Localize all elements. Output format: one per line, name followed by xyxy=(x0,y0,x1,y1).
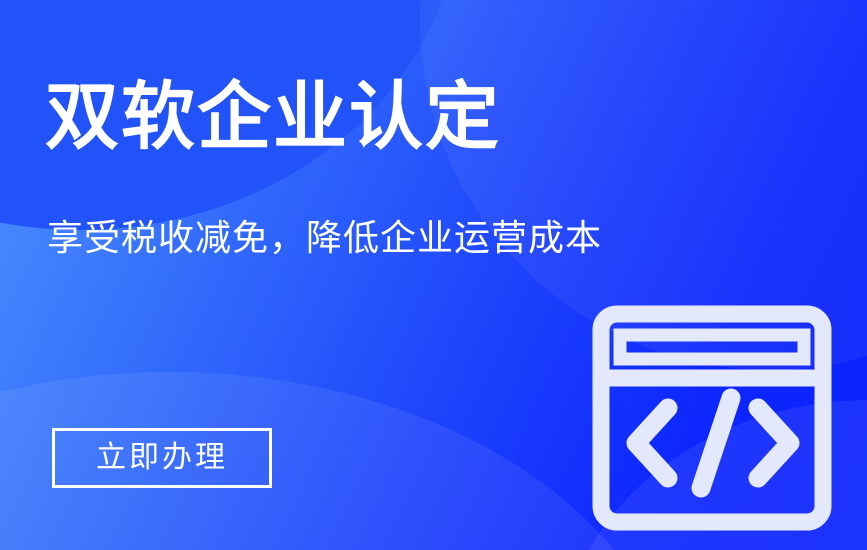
cta-apply-now-button[interactable]: 立即办理 xyxy=(52,428,272,488)
code-window-icon xyxy=(588,303,836,533)
code-left-bracket-icon xyxy=(636,408,668,478)
code-window-titlebar-slot xyxy=(620,335,804,359)
banner-content: 双软企业认定 享受税收减免，降低企业运营成本 立即办理 xyxy=(0,0,867,550)
promo-banner: 双软企业认定 享受税收减免，降低企业运营成本 立即办理 xyxy=(0,0,867,550)
code-window-frame xyxy=(601,314,823,522)
code-right-bracket-icon xyxy=(758,408,790,478)
banner-headline: 双软企业认定 xyxy=(45,80,501,154)
code-slash-icon xyxy=(701,398,731,488)
banner-subheadline: 享受税收减免，降低企业运营成本 xyxy=(47,215,602,260)
